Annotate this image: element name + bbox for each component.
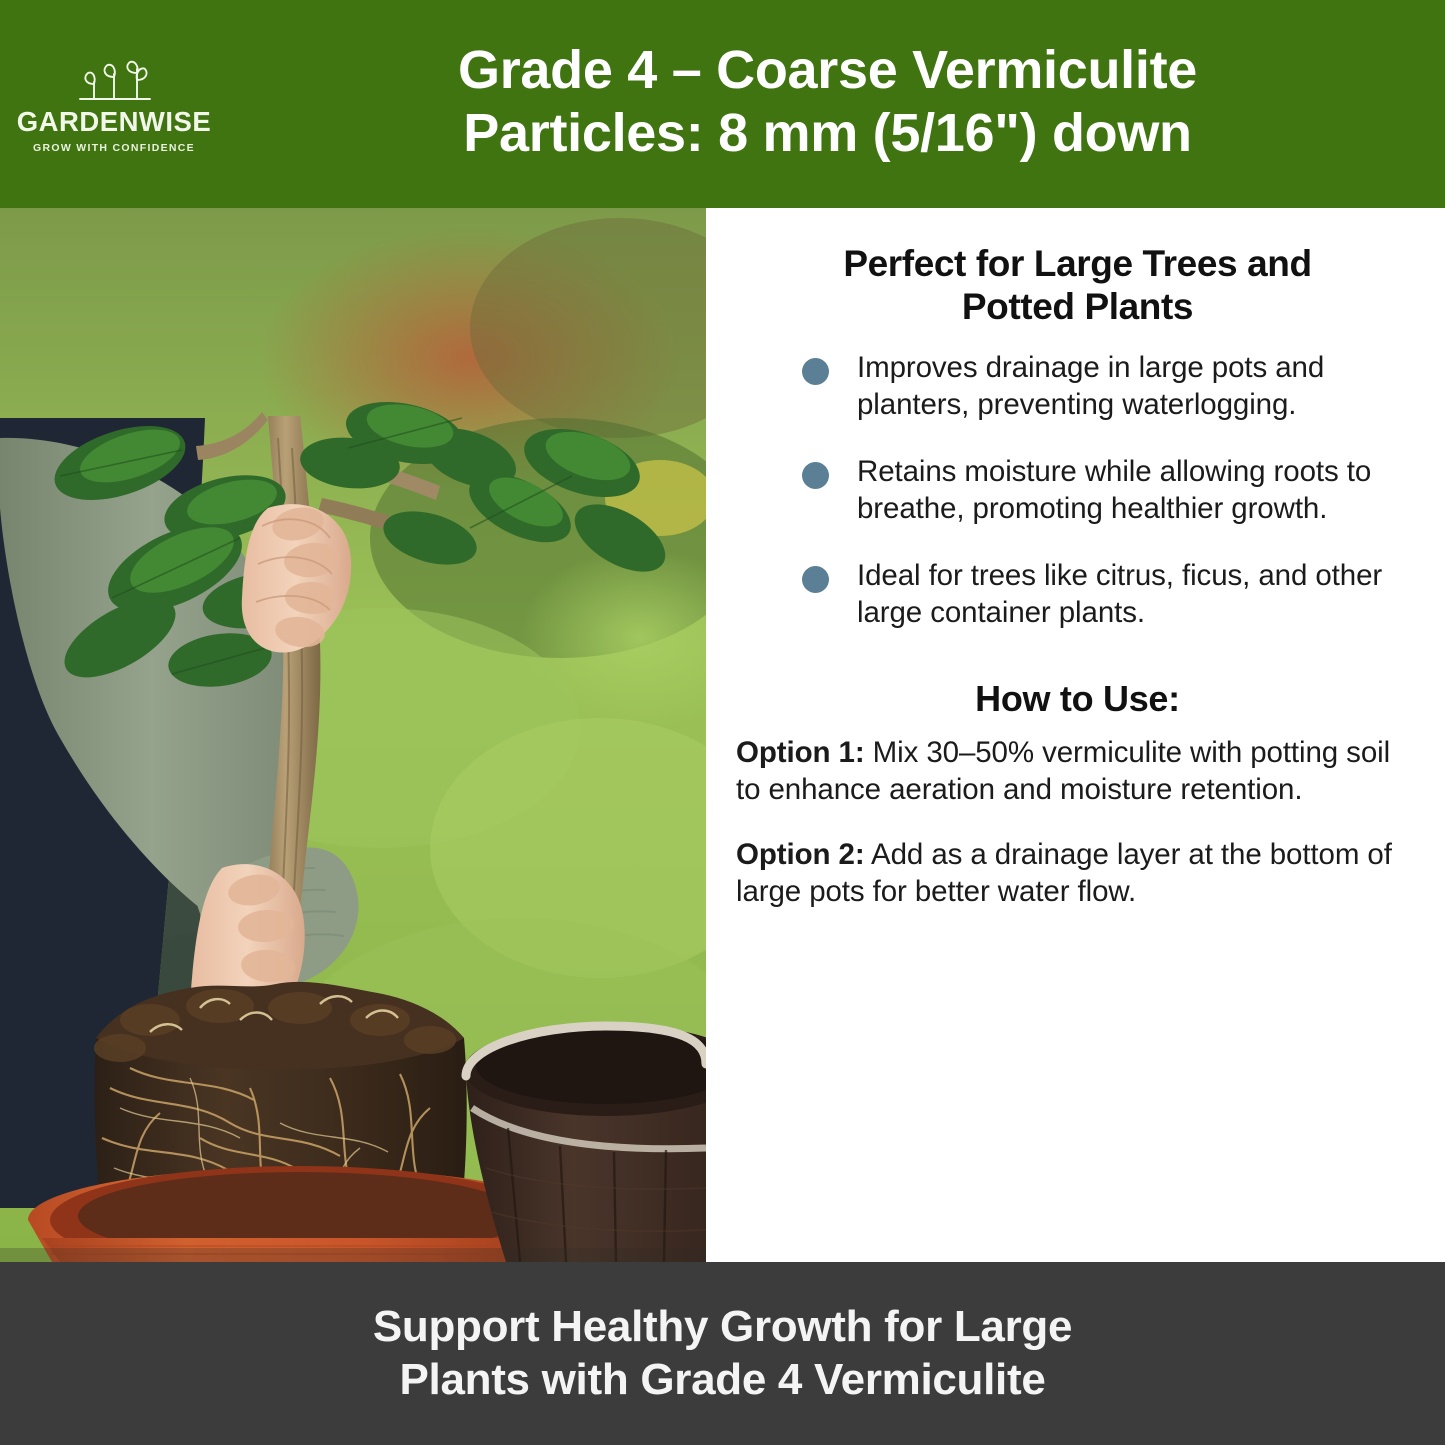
panel-heading-line-1: Perfect for Large Trees and [843, 243, 1311, 284]
photo-illustration [0, 208, 706, 1262]
option-1: Option 1: Mix 30–50% vermiculite with po… [736, 734, 1415, 808]
option-1-label: Option 1: [736, 736, 865, 769]
bullet-dot-icon [802, 566, 829, 593]
title-line-2: Particles: 8 mm (5/16") down [228, 102, 1427, 165]
option-2: Option 2: Add as a drainage layer at the… [736, 836, 1415, 910]
brand-name: GARDENWISE [17, 108, 211, 136]
brand-logo: GARDENWISE GROW WITH CONFIDENCE [0, 54, 228, 155]
panel-heading-line-2: Potted Plants [962, 286, 1193, 327]
how-to-use-heading: How to Use: [736, 678, 1419, 720]
list-item: Retains moisture while allowing roots to… [736, 453, 1419, 527]
bullet-dot-icon [802, 358, 829, 385]
footer-line-1: Support Healthy Growth for Large [373, 1301, 1072, 1354]
title-line-1: Grade 4 – Coarse Vermiculite [228, 39, 1427, 102]
benefit-text: Ideal for trees like citrus, ficus, and … [857, 557, 1419, 631]
footer-line-2: Plants with Grade 4 Vermiculite [373, 1354, 1072, 1407]
list-item: Ideal for trees like citrus, ficus, and … [736, 557, 1419, 631]
footer-tagline: Support Healthy Growth for Large Plants … [373, 1301, 1072, 1407]
benefits-list: Improves drainage in large pots and plan… [736, 349, 1419, 632]
three-sprouts-icon [66, 60, 162, 106]
product-photo [0, 208, 706, 1262]
option-2-label: Option 2: [736, 838, 865, 871]
product-infographic: GARDENWISE GROW WITH CONFIDENCE Grade 4 … [0, 0, 1445, 1445]
header-banner: GARDENWISE GROW WITH CONFIDENCE Grade 4 … [0, 0, 1445, 208]
content-panel: Perfect for Large Trees and Potted Plant… [706, 208, 1445, 1262]
bullet-dot-icon [802, 462, 829, 489]
benefit-text: Retains moisture while allowing roots to… [857, 453, 1419, 527]
brand-tagline: GROW WITH CONFIDENCE [33, 142, 195, 154]
page-title: Grade 4 – Coarse Vermiculite Particles: … [228, 39, 1445, 168]
footer-banner: Support Healthy Growth for Large Plants … [0, 1262, 1445, 1445]
list-item: Improves drainage in large pots and plan… [736, 349, 1419, 423]
panel-heading: Perfect for Large Trees and Potted Plant… [744, 242, 1411, 329]
benefit-text: Improves drainage in large pots and plan… [857, 349, 1419, 423]
